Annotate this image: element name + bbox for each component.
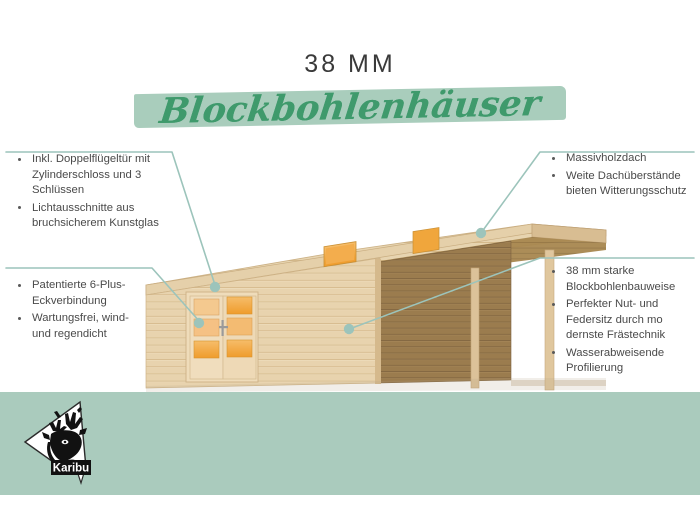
page-kicker: 38 MM	[0, 50, 700, 79]
door-leaf-left	[190, 296, 223, 379]
door-glass-pane	[194, 341, 219, 358]
door-glass-pane	[194, 299, 219, 315]
cabin-front-wall	[146, 258, 380, 388]
roof-front-fascia-shadow	[146, 230, 532, 303]
door-leaf-right	[223, 296, 256, 379]
callout-item: Wartungsfrei, wind- und regendicht	[17, 311, 149, 342]
karibu-logo: Karibu	[20, 398, 112, 490]
cabin-base-shadow	[146, 378, 606, 392]
callout-item: Lichtausschnitte aus bruchsicherem Kunst…	[17, 201, 165, 232]
callout-item: Wasserabweisende Profilierung	[551, 346, 691, 377]
page-title: Blockbohlenhäuser	[157, 83, 542, 132]
leader-dot-bottom-left	[194, 318, 204, 328]
leader-dot-top-right	[476, 228, 486, 238]
door-glass-pane	[227, 297, 252, 314]
logo-wordmark: Karibu	[53, 463, 89, 475]
deer-eye-pupil	[64, 441, 67, 443]
infographic-canvas: 38 MM Blockbohlenhäuser	[0, 0, 700, 525]
leader-dot-top-left	[210, 282, 220, 292]
callout-item: Perfekter Nut- und Federsitz durch mo de…	[551, 297, 691, 344]
door-glass-pane	[227, 340, 252, 357]
roof-right-end	[532, 224, 606, 243]
callout-item: Inkl. Doppelflügeltür mit Zylinderschlos…	[17, 152, 165, 199]
page-title-wrap: Blockbohlenhäuser	[0, 84, 700, 134]
recessed-wall-window	[413, 227, 439, 253]
roof-top-surface	[146, 224, 606, 295]
cabin-window	[324, 242, 356, 267]
leader-dot-bottom-right	[344, 324, 354, 334]
door-frame	[186, 292, 258, 382]
carport-post-front	[471, 268, 479, 388]
cabin-recessed-wall	[380, 241, 511, 383]
door-glass-pane	[194, 319, 219, 336]
callout-item: Massivholzdach	[551, 151, 693, 167]
door-handle-bar	[222, 320, 224, 336]
cabin-window-inner	[326, 244, 354, 264]
callout-bottom-left: Patentierte 6-Plus-Eckverbindung Wartung…	[17, 278, 149, 344]
callout-top-left: Inkl. Doppelflügeltür mit Zylinderschlos…	[17, 152, 165, 234]
callout-item: 38 mm starke Blockbohlenbauweise	[551, 264, 691, 295]
door-glass-pane	[227, 318, 252, 335]
callout-bottom-right: 38 mm starke Blockbohlenbauweise Perfekt…	[551, 264, 691, 379]
title-highlight-band: Blockbohlenhäuser	[134, 84, 566, 134]
callout-item: Weite Dachüberstände bieten Witterungssc…	[551, 169, 693, 200]
cabin-corner-edge	[375, 259, 381, 384]
door-handle	[219, 326, 228, 328]
carport-floor-shadow	[511, 380, 606, 386]
roof-front-fascia	[146, 224, 532, 295]
callout-item: Patentierte 6-Plus-Eckverbindung	[17, 278, 149, 309]
callout-top-right: Massivholzdach Weite Dachüberstände biet…	[551, 151, 693, 202]
